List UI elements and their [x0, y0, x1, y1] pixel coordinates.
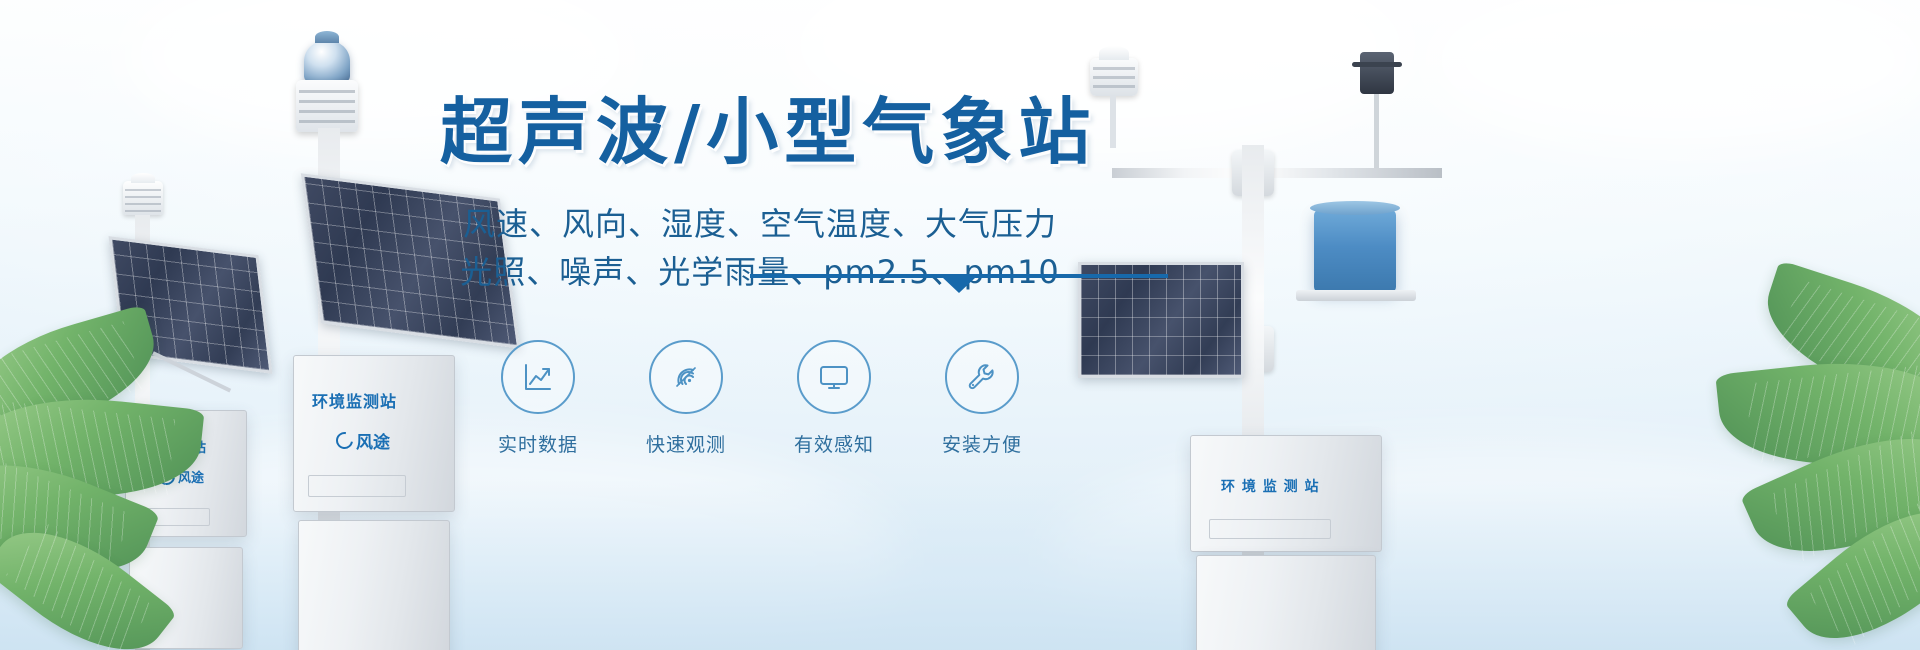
center-brand-text: 风途	[356, 428, 390, 453]
feature-label: 实时数据	[486, 430, 590, 457]
feature-item-effective-sensing[interactable]: 有效感知	[782, 340, 886, 457]
right-rain-gauge-icon	[1314, 210, 1396, 292]
feature-item-fast-observation[interactable]: 快速观测	[634, 340, 738, 457]
right-rain-gauge-shelf	[1296, 290, 1416, 301]
feature-label: 安装方便	[930, 430, 1034, 457]
center-total-radiation-dome-icon	[304, 40, 350, 82]
right-cabinet-vent	[1209, 519, 1331, 539]
left-temp-humidity-shield-icon	[123, 181, 163, 215]
down-triangle-icon	[942, 277, 976, 293]
right-cabinet-label: 环 境 监 测 站	[1221, 476, 1320, 496]
monitor-icon	[797, 340, 871, 414]
right-weather-station: 环 境 监 测 站	[1060, 50, 1480, 650]
right-ultrasonic-sensor-icon	[1090, 58, 1138, 96]
feature-list: 实时数据 快速观测 有效感知	[440, 340, 1080, 457]
right-battery-base	[1196, 555, 1376, 650]
center-control-cabinet: 环境监测站 风途	[293, 355, 455, 512]
banner-stage: 环境监测站 风途 环境监测站 风途	[0, 0, 1920, 650]
right-cross-arm	[1112, 168, 1442, 178]
center-battery-base	[298, 520, 450, 650]
feature-label: 有效感知	[782, 430, 886, 457]
subtitle-line-1: 风速、风向、湿度、空气温度、大气压力	[440, 200, 1080, 248]
line-chart-icon	[501, 340, 575, 414]
center-brand: 风途	[336, 428, 390, 453]
banner-copy: 超声波/小型气象站 风速、风向、湿度、空气温度、大气压力 光照、噪声、光学雨量、…	[440, 96, 1080, 296]
feature-label: 快速观测	[634, 430, 738, 457]
radar-signal-icon	[649, 340, 723, 414]
right-control-cabinet: 环 境 监 测 站	[1190, 435, 1382, 552]
brand-mark-icon	[333, 429, 357, 453]
title-divider	[750, 266, 1168, 288]
cloud-decoration	[1420, 0, 1920, 150]
wrench-icon	[945, 340, 1019, 414]
center-cabinet-label: 环境监测站	[312, 388, 397, 412]
right-wind-vane-icon	[1360, 52, 1394, 94]
feature-item-realtime-data[interactable]: 实时数据	[486, 340, 590, 457]
feature-item-easy-installation[interactable]: 安装方便	[930, 340, 1034, 457]
page-title: 超声波/小型气象站	[440, 96, 1080, 168]
center-cabinet-vent	[308, 475, 406, 497]
center-radiation-shield-icon	[296, 80, 358, 132]
